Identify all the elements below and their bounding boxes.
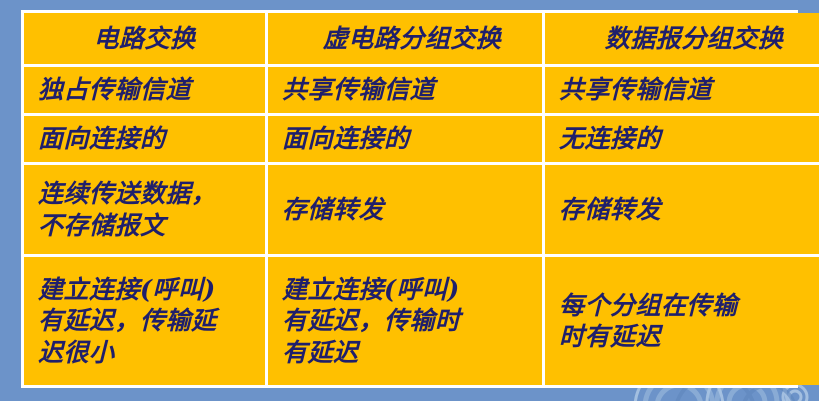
header-cell-circuit-switching: 电路交换 bbox=[24, 13, 268, 67]
cell-r4-c3: 每个分组在传输 时有延迟 bbox=[545, 257, 819, 385]
comparison-table-frame: 电路交换 虚电路分组交换 数据报分组交换 独占传输信道 共享传输信道 共享传输信… bbox=[21, 10, 798, 388]
header-cell-virtual-circuit-packet-switching: 虚电路分组交换 bbox=[268, 13, 545, 67]
table-row: 建立连接(呼叫) 有延迟，传输延 迟很小 建立连接(呼叫) 有延迟，传输时 有延… bbox=[24, 257, 819, 385]
cell-r2-c3: 无连接的 bbox=[545, 116, 819, 165]
cell-r1-c2: 共享传输信道 bbox=[268, 67, 545, 116]
cell-r2-c2: 面向连接的 bbox=[268, 116, 545, 165]
slide-canvas: 电路交换 虚电路分组交换 数据报分组交换 独占传输信道 共享传输信道 共享传输信… bbox=[0, 0, 819, 401]
cell-r1-c1: 独占传输信道 bbox=[24, 67, 268, 116]
cell-r3-c3: 存储转发 bbox=[545, 165, 819, 257]
cell-r4-c2: 建立连接(呼叫) 有延迟，传输时 有延迟 bbox=[268, 257, 545, 385]
table-header-row: 电路交换 虚电路分组交换 数据报分组交换 bbox=[24, 13, 819, 67]
table-row: 连续传送数据， 不存储报文 存储转发 存储转发 bbox=[24, 165, 819, 257]
table-row: 独占传输信道 共享传输信道 共享传输信道 bbox=[24, 67, 819, 116]
table-row: 面向连接的 面向连接的 无连接的 bbox=[24, 116, 819, 165]
comparison-table: 电路交换 虚电路分组交换 数据报分组交换 独占传输信道 共享传输信道 共享传输信… bbox=[24, 13, 819, 385]
header-cell-datagram-packet-switching: 数据报分组交换 bbox=[545, 13, 819, 67]
cell-r4-c1: 建立连接(呼叫) 有延迟，传输延 迟很小 bbox=[24, 257, 268, 385]
cell-r3-c2: 存储转发 bbox=[268, 165, 545, 257]
cell-r2-c1: 面向连接的 bbox=[24, 116, 268, 165]
cell-r1-c3: 共享传输信道 bbox=[545, 67, 819, 116]
cell-r3-c1: 连续传送数据， 不存储报文 bbox=[24, 165, 268, 257]
